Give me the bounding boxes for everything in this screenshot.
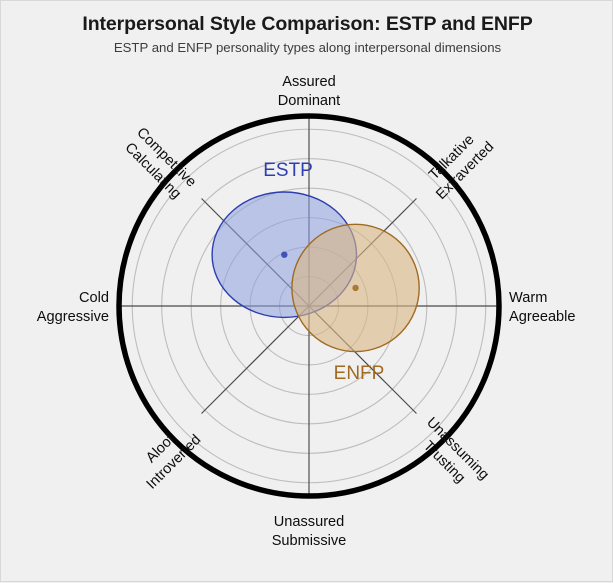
axis-label-warm-agreeable: WarmAgreeable bbox=[509, 290, 576, 325]
axis-label-line2: Aggressive bbox=[37, 309, 109, 325]
axis-label-line1: Cold bbox=[79, 290, 109, 306]
axis-label-line1: Assured bbox=[282, 74, 336, 90]
circumplex-plot: AssuredDominantTalkativeExtravertedWarmA… bbox=[1, 1, 613, 583]
axis-label-assured-dominant: AssuredDominant bbox=[278, 74, 340, 109]
axis-label-line2: Dominant bbox=[278, 93, 340, 109]
axis-label-line1: Unassured bbox=[274, 514, 345, 530]
series-center-dot-enfp bbox=[352, 285, 358, 291]
axis-spoke-aloof-introverted bbox=[202, 306, 309, 413]
chart-root: Interpersonal Style Comparison: ESTP and… bbox=[0, 0, 613, 582]
axis-label-line2: Agreeable bbox=[509, 309, 576, 325]
axis-label-line1: Warm bbox=[509, 290, 547, 306]
axis-label-line2: Submissive bbox=[272, 533, 347, 549]
series-center-dot-estp bbox=[281, 252, 287, 258]
series-shapes bbox=[212, 192, 419, 352]
axis-label-cold-aggressive: ColdAggressive bbox=[37, 290, 109, 325]
axis-label-unassured-submissive: UnassuredSubmissive bbox=[272, 514, 347, 549]
series-label-enfp: ENFP bbox=[334, 363, 385, 384]
series-label-estp: ESTP bbox=[263, 160, 313, 181]
